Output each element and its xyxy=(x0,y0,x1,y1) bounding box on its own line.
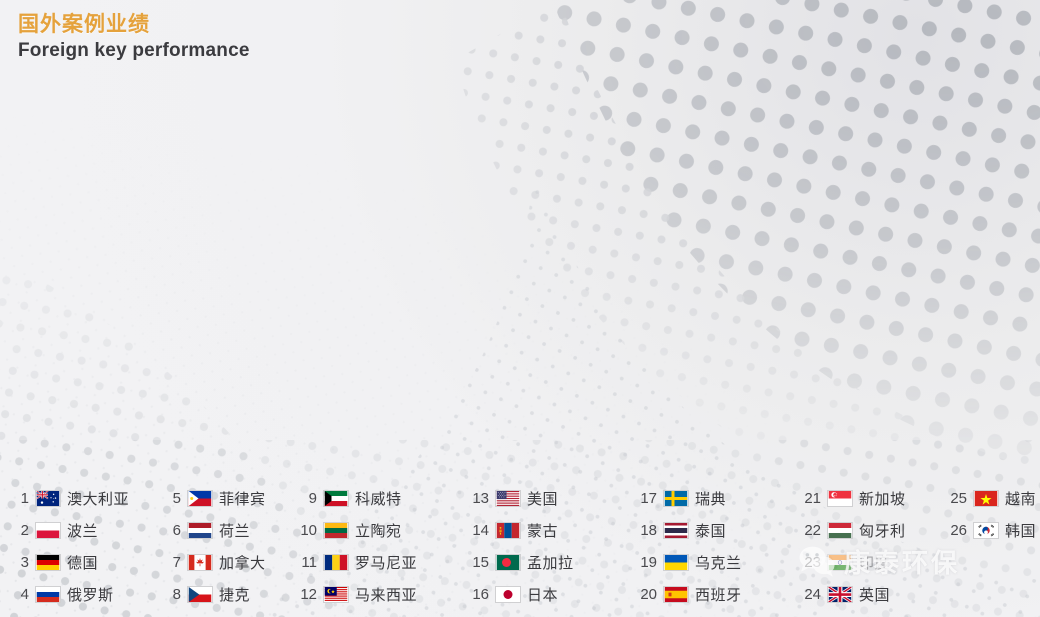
australia-flag-icon xyxy=(35,490,61,507)
poland-flag-icon xyxy=(35,522,61,539)
legend-item-number: 1 xyxy=(10,490,29,507)
romania-flag-icon xyxy=(323,554,349,571)
legend-item-label: 波兰 xyxy=(67,520,98,541)
mongolia-flag-icon xyxy=(495,522,521,539)
legend-item-number: 18 xyxy=(638,522,657,539)
legend-item-australia[interactable]: 1 澳大利亚 xyxy=(0,488,152,509)
legend-item-bangladesh[interactable]: 15孟加拉 xyxy=(460,552,628,573)
legend-item-number: 21 xyxy=(802,490,821,507)
legend-item-label: 瑞典 xyxy=(695,488,726,509)
legend-item-number: 22 xyxy=(802,522,821,539)
legend-item-label: 英国 xyxy=(859,584,890,605)
legend-item-label: 乌克兰 xyxy=(695,552,742,573)
page-title-cn: 国外案例业绩 xyxy=(18,12,250,38)
legend-item-germany[interactable]: 3德国 xyxy=(0,552,152,573)
legend-item-czech[interactable]: 8捷克 xyxy=(152,584,288,605)
legend-item-uk[interactable]: 24 英国 xyxy=(792,584,938,605)
legend-item-label: 菲律宾 xyxy=(219,488,266,509)
legend-item-hungary[interactable]: 22匈牙利 xyxy=(792,520,938,541)
legend-item-label: 西班牙 xyxy=(695,584,742,605)
legend-item-label: 孟加拉 xyxy=(527,552,574,573)
legend-item-number: 23 xyxy=(802,554,821,571)
legend-item-number: 16 xyxy=(470,586,489,603)
legend-item-romania[interactable]: 11罗马尼亚 xyxy=(288,552,460,573)
legend-item-singapore[interactable]: 21 新加坡 xyxy=(792,488,938,509)
spain-flag-icon xyxy=(663,586,689,603)
legend-item-number: 15 xyxy=(470,554,489,571)
legend-item-canada[interactable]: 7 加拿大 xyxy=(152,552,288,573)
legend-item-vietnam[interactable]: 25 越南 xyxy=(938,488,1040,509)
legend-item-label: 立陶宛 xyxy=(355,520,402,541)
legend-item-number: 13 xyxy=(470,490,489,507)
legend-item-number: 7 xyxy=(162,554,181,571)
legend-item-label: 俄罗斯 xyxy=(67,584,114,605)
legend-item-russia[interactable]: 4俄罗斯 xyxy=(0,584,152,605)
legend-item-number: 17 xyxy=(638,490,657,507)
legend-item-number: 19 xyxy=(638,554,657,571)
legend-item-label: 加拿大 xyxy=(219,552,266,573)
legend-item-number: 14 xyxy=(470,522,489,539)
legend-item-number: 10 xyxy=(298,522,317,539)
hungary-flag-icon xyxy=(827,522,853,539)
legend-item-label: 越南 xyxy=(1005,488,1036,509)
lithuania-flag-icon xyxy=(323,522,349,539)
legend-item-label: 荷兰 xyxy=(219,520,250,541)
legend-item-number: 9 xyxy=(298,490,317,507)
thailand-flag-icon xyxy=(663,522,689,539)
legend-item-label: 蒙古 xyxy=(527,520,558,541)
legend-item-netherlands[interactable]: 6荷兰 xyxy=(152,520,288,541)
page-header: 国外案例业绩 Foreign key performance xyxy=(18,12,250,63)
legend-item-label: 印度 xyxy=(859,552,890,573)
legend-item-label: 美国 xyxy=(527,488,558,509)
legend-item-south-korea[interactable]: 26 韩国 xyxy=(938,520,1040,541)
legend-item-japan[interactable]: 16日本 xyxy=(460,584,628,605)
legend-item-poland[interactable]: 2波兰 xyxy=(0,520,152,541)
legend-item-number: 11 xyxy=(298,554,317,571)
legend-item-label: 科威特 xyxy=(355,488,402,509)
russia-flag-icon xyxy=(35,586,61,603)
canada-flag-icon xyxy=(187,554,213,571)
malaysia-flag-icon xyxy=(323,586,349,603)
legend-item-number: 26 xyxy=(948,522,967,539)
japan-flag-icon xyxy=(495,586,521,603)
legend-item-label: 韩国 xyxy=(1005,520,1036,541)
legend-item-sweden[interactable]: 17瑞典 xyxy=(628,488,792,509)
legend-item-label: 捷克 xyxy=(219,584,250,605)
legend-item-number: 6 xyxy=(162,522,181,539)
page-title-en: Foreign key performance xyxy=(18,40,250,63)
legend-item-number: 12 xyxy=(298,586,317,603)
legend-item-lithuania[interactable]: 10立陶宛 xyxy=(288,520,460,541)
legend-item-label: 日本 xyxy=(527,584,558,605)
legend-item-number: 4 xyxy=(10,586,29,603)
sweden-flag-icon xyxy=(663,490,689,507)
uk-flag-icon xyxy=(827,586,853,603)
legend-item-ukraine[interactable]: 19乌克兰 xyxy=(628,552,792,573)
legend-item-label: 德国 xyxy=(67,552,98,573)
czech-flag-icon xyxy=(187,586,213,603)
legend-item-india[interactable]: 23 印度 xyxy=(792,552,938,573)
legend-item-usa[interactable]: 13 美国 xyxy=(460,488,628,509)
legend-item-thailand[interactable]: 18泰国 xyxy=(628,520,792,541)
ukraine-flag-icon xyxy=(663,554,689,571)
vietnam-flag-icon xyxy=(973,490,999,507)
legend-item-number: 25 xyxy=(948,490,967,507)
legend-item-number: 3 xyxy=(10,554,29,571)
legend-item-malaysia[interactable]: 12 马来西亚 xyxy=(288,584,460,605)
singapore-flag-icon xyxy=(827,490,853,507)
legend-item-number: 2 xyxy=(10,522,29,539)
netherlands-flag-icon xyxy=(187,522,213,539)
bangladesh-flag-icon xyxy=(495,554,521,571)
legend-item-spain[interactable]: 20 西班牙 xyxy=(628,584,792,605)
legend-item-label: 新加坡 xyxy=(859,488,906,509)
legend-item-label: 马来西亚 xyxy=(355,584,417,605)
legend-item-label: 罗马尼亚 xyxy=(355,552,417,573)
legend-item-number: 8 xyxy=(162,586,181,603)
legend-item-number: 20 xyxy=(638,586,657,603)
legend-item-number: 5 xyxy=(162,490,181,507)
germany-flag-icon xyxy=(35,554,61,571)
south-korea-flag-icon xyxy=(973,522,999,539)
legend-item-number: 24 xyxy=(802,586,821,603)
legend-item-kuwait[interactable]: 9科威特 xyxy=(288,488,460,509)
legend-item-label: 澳大利亚 xyxy=(67,488,129,509)
country-flag-legend: 1 澳大利亚2波兰3德国4俄罗斯5 菲律宾6荷兰7 加拿大8捷克9科威特10立陶… xyxy=(0,482,1040,612)
legend-item-mongolia[interactable]: 14 蒙古 xyxy=(460,520,628,541)
kuwait-flag-icon xyxy=(323,490,349,507)
legend-item-label: 匈牙利 xyxy=(859,520,906,541)
slide-root: 国外案例业绩 Foreign key performance 1 澳大利亚2波兰… xyxy=(0,0,1040,617)
india-flag-icon xyxy=(827,554,853,571)
legend-item-philippines[interactable]: 5 菲律宾 xyxy=(152,488,288,509)
legend-item-label: 泰国 xyxy=(695,520,726,541)
philippines-flag-icon xyxy=(187,490,213,507)
usa-flag-icon xyxy=(495,490,521,507)
